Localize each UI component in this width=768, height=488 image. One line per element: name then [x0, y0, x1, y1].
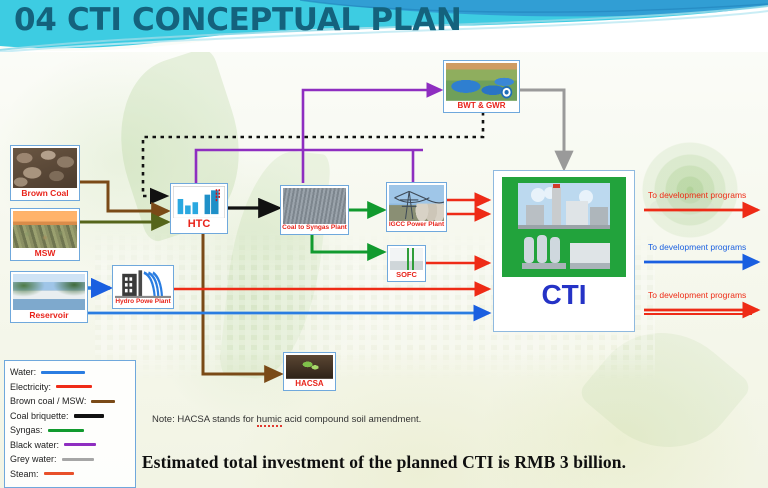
investment-statement: Estimated total investment of the planne…: [0, 452, 768, 473]
output-label-2: To development programs: [648, 242, 746, 252]
node-bwt-label: BWT & GWR: [458, 101, 506, 110]
note-prefix: Note: HACSA stands for: [152, 414, 257, 425]
output-label-1: To development programs: [648, 190, 746, 200]
fuel-cell-plant-photo: [390, 248, 423, 270]
legend-swatch-coal-briquette: [74, 414, 104, 418]
node-msw-label: MSW: [35, 248, 56, 258]
slide-canvas: 04 CTI CONCEPTUAL PLAN: [0, 0, 768, 488]
legend-item-black-water: Black water:: [10, 438, 130, 453]
node-igcc-power-plant[interactable]: IGCC Power Plant: [386, 182, 447, 232]
node-bwt-gwr[interactable]: BWT & GWR: [443, 60, 520, 113]
seedling-soil-photo: [286, 355, 333, 379]
coal-pile-photo: [13, 148, 77, 188]
node-brown-coal-label: Brown Coal: [21, 188, 68, 198]
node-cti[interactable]: CTI: [493, 170, 635, 332]
legend-label-water: Water:: [10, 367, 36, 377]
node-sofc[interactable]: SOFC: [387, 245, 426, 282]
industrial-complex-photo: [508, 181, 620, 273]
legend-label-syngas: Syngas:: [10, 425, 43, 435]
note-highlight: humic: [257, 414, 282, 427]
legend-item-electricity: Electricity:: [10, 380, 130, 395]
node-reservoir-label: Reservoir: [29, 310, 68, 320]
cti-image-panel: [502, 177, 626, 277]
legend-item-coal-briquette: Coal briquette:: [10, 409, 130, 424]
output-label-3: To development programs: [648, 290, 746, 300]
bar-chart-icon: [173, 186, 225, 218]
legend-item-syngas: Syngas:: [10, 423, 130, 438]
node-cti-label: CTI: [541, 281, 586, 309]
legend-swatch-black-water: [64, 443, 96, 446]
legend-label-brown-coal-msw: Brown coal / MSW:: [10, 396, 86, 406]
page-title: 04 CTI CONCEPTUAL PLAN: [14, 2, 462, 38]
legend-label-coal-briquette: Coal briquette:: [10, 411, 69, 421]
node-sofc-label: SOFC: [396, 270, 417, 279]
node-htc-label: HTC: [188, 218, 211, 231]
legend-swatch-electricity: [56, 385, 92, 388]
note-suffix: acid compound soil amendment.: [282, 414, 421, 425]
node-hydro-label: Hydro Powe Plant: [115, 298, 170, 306]
dam-photo: [13, 274, 85, 310]
note-text: Note: HACSA stands for humic acid compou…: [152, 414, 421, 425]
node-htc[interactable]: HTC: [170, 183, 228, 234]
node-hacsa[interactable]: HACSA: [283, 352, 336, 391]
water-treatment-photo: [446, 63, 517, 101]
node-syngas-label: Coal to Syngas Plant: [282, 224, 347, 232]
node-igcc-label: IGCC Power Plant: [389, 221, 444, 229]
legend-swatch-syngas: [48, 429, 84, 432]
legend-item-water: Water:: [10, 365, 130, 380]
legend-label-electricity: Electricity:: [10, 382, 51, 392]
node-hydro-power-plant[interactable]: Hydro Powe Plant: [112, 265, 174, 309]
hydro-plant-icon: [115, 268, 171, 298]
node-hacsa-label: HACSA: [295, 379, 323, 388]
node-msw[interactable]: MSW: [10, 208, 80, 261]
slide-header: 04 CTI CONCEPTUAL PLAN: [0, 0, 768, 52]
node-brown-coal[interactable]: Brown Coal: [10, 145, 80, 201]
legend-swatch-water: [41, 371, 85, 374]
landfill-photo: [13, 211, 77, 248]
legend-label-black-water: Black water:: [10, 440, 59, 450]
legend-item-brown-coal-msw: Brown coal / MSW:: [10, 394, 130, 409]
node-coal-to-syngas-plant[interactable]: Coal to Syngas Plant: [280, 185, 349, 235]
node-reservoir[interactable]: Reservoir: [10, 271, 88, 323]
legend-swatch-brown-coal-msw: [91, 400, 115, 403]
gasifier-photo: [283, 188, 346, 224]
power-pylon-photo: [389, 185, 444, 221]
